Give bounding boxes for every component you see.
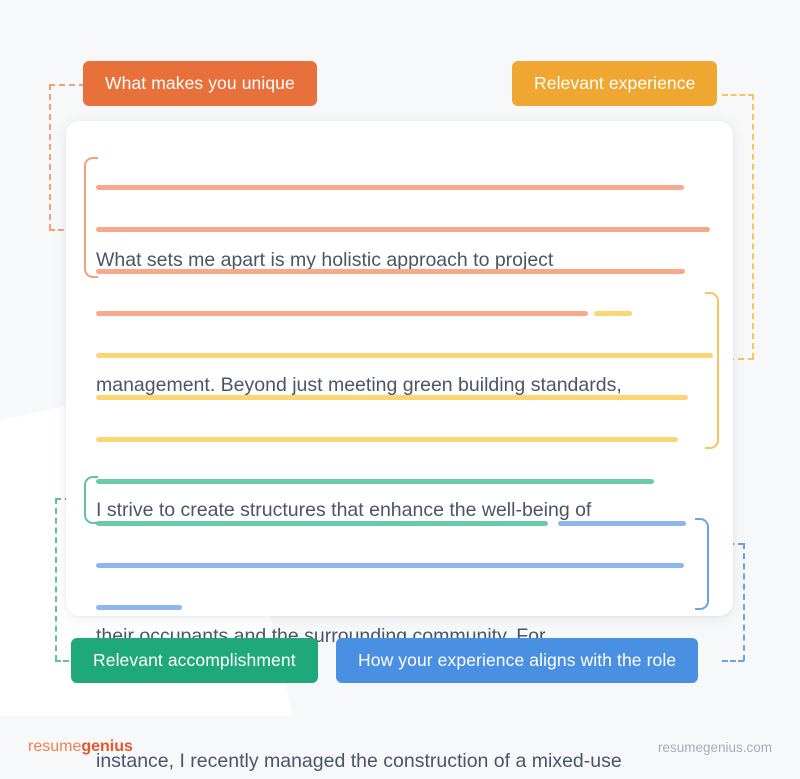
highlight-underline-green (96, 521, 548, 526)
label-how-experience-aligns[interactable]: How your experience aligns with the role (336, 638, 698, 683)
highlight-underline-green (96, 479, 654, 484)
bracket-orange (84, 157, 98, 278)
paragraph-line: What sets me apart is my holistic approa… (96, 240, 716, 282)
highlight-underline-blue (96, 605, 182, 610)
highlight-underline-orange (96, 311, 588, 316)
connector-orange-top (49, 84, 85, 86)
bracket-yellow (705, 292, 719, 449)
connector-orange-vertical (49, 84, 51, 230)
paragraph-line: management. Beyond just meeting green bu… (96, 365, 716, 407)
highlight-underline-yellow (96, 353, 713, 358)
connector-blue-bottom (722, 660, 744, 662)
connector-yellow-top (722, 94, 754, 96)
highlight-underline-yellow (96, 437, 678, 442)
highlight-underline-orange (96, 227, 710, 232)
highlight-underline-blue (96, 563, 684, 568)
logo-text-resume: resume (28, 738, 81, 755)
highlight-underline-orange (96, 269, 685, 274)
screenshot-root: What makes you unique Relevant experienc… (0, 0, 800, 779)
label-relevant-accomplishment[interactable]: Relevant accomplishment (71, 638, 318, 683)
connector-yellow-vertical (752, 94, 754, 359)
bracket-blue (695, 518, 709, 610)
highlight-underline-yellow (594, 311, 632, 316)
bracket-green (84, 476, 98, 524)
connector-blue-vertical (743, 543, 745, 661)
paragraph-line: instance, I recently managed the constru… (96, 741, 716, 779)
label-relevant-experience[interactable]: Relevant experience (512, 61, 717, 106)
logo-text-genius: genius (81, 738, 133, 755)
footer-website-url: resumegenius.com (658, 740, 772, 755)
cover-letter-paragraph: What sets me apart is my holistic approa… (96, 156, 716, 779)
resume-genius-logo[interactable]: resumegenius (28, 738, 133, 756)
highlight-underline-orange (96, 185, 684, 190)
label-what-makes-you-unique[interactable]: What makes you unique (83, 61, 317, 106)
connector-green-vertical (55, 498, 57, 661)
highlight-underline-yellow (96, 395, 688, 400)
highlight-underline-blue (558, 521, 686, 526)
